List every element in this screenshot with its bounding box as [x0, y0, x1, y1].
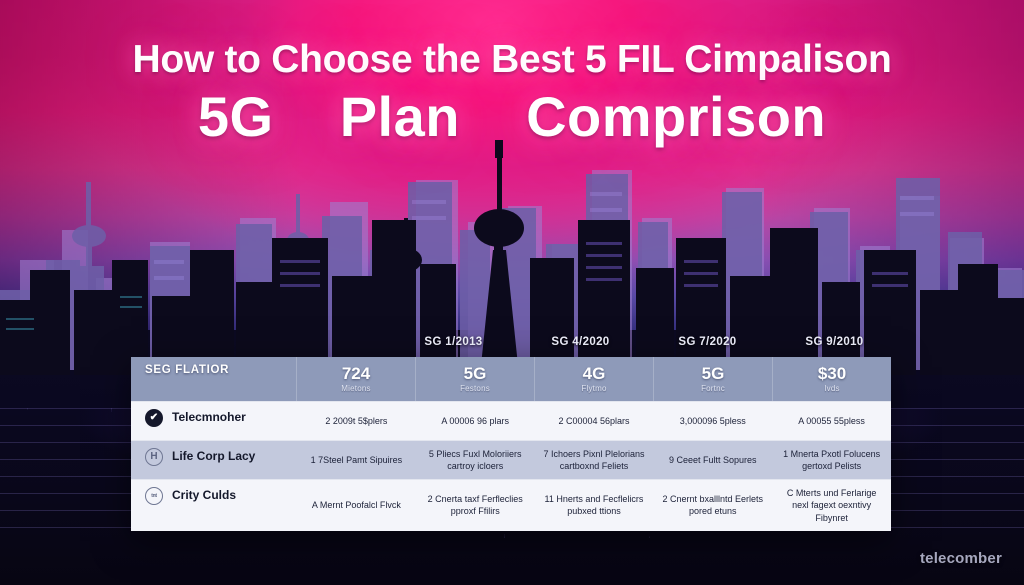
table-row-1-cell-0: 1 7Steel Pamt Sipuires: [297, 441, 416, 479]
table-row-1-label-cell: H Life Corp Lacy: [131, 441, 297, 479]
table-row-2-cell-3: 2 Cnernt bxalllntd Eerlets pored etuns: [653, 480, 772, 530]
table-header-col-0-value: 724: [342, 365, 370, 383]
table-header-col-2[interactable]: 4G Flytmo: [535, 357, 654, 401]
table-row-2-label-cell: tnt Crity Culds: [131, 480, 297, 530]
timeline-label-2: SG 7/2020: [644, 331, 771, 353]
table-header-col-4[interactable]: $30 Ivds: [773, 357, 891, 401]
timeline-label-3: SG 9/2010: [771, 331, 898, 353]
table-row-0-cell-0: 2 2009t 5$plers: [297, 402, 416, 440]
table-header-row: SEG FLATIOR 724 Mietons 5G Festons 4G Fl…: [131, 357, 891, 401]
text-circle-icon: tnt: [145, 487, 163, 505]
table-header-col-1[interactable]: 5G Festons: [416, 357, 535, 401]
table-row[interactable]: H Life Corp Lacy 1 7Steel Pamt Sipuires …: [131, 440, 891, 479]
table-row-0-cell-3: 3,000096 5pless: [653, 402, 772, 440]
table-row-2-cell-2: 11 Hnerts and Fecflelicrs pubxed ttions: [535, 480, 654, 530]
table-row-1-cell-3: 9 Ceeet Fultt Sopures: [653, 441, 772, 479]
table-row-2-cell-4: C Mterts und Ferlarige nexl fagext oexnt…: [772, 480, 891, 530]
table-header-col-0-sub: Mietons: [341, 384, 370, 393]
table-row-2-label: Crity Culds: [172, 487, 236, 503]
table-header-feature-label: SEG FLATIOR: [145, 364, 229, 376]
timeline-label-0: SG 1/2013: [390, 331, 517, 353]
table-row-1-cell-4: 1 Mnerta Pxotl Folucens gertoxd Pelists: [772, 441, 891, 479]
brand-watermark: telecomber: [920, 550, 1002, 567]
table-header-feature-cell: SEG FLATIOR: [131, 357, 297, 401]
table-header-col-4-value: $30: [818, 365, 846, 383]
table-header-col-0[interactable]: 724 Mietons: [297, 357, 416, 401]
table-header-col-3[interactable]: 5G Fortnc: [654, 357, 773, 401]
table-row[interactable]: tnt Crity Culds A Mernt Poofalcl Flvck 2…: [131, 479, 891, 530]
table-header-col-1-sub: Festons: [460, 384, 490, 393]
table-header-col-2-sub: Flytmo: [581, 384, 606, 393]
table-header-col-3-value: 5G: [702, 365, 725, 383]
table-row-2-cell-1: 2 Cnerta taxf Ferfleclies pproxf Ffilirs: [416, 480, 535, 530]
table-row-1-cell-1: 5 Pliecs Fuxl Moloriiers cartroy icloers: [416, 441, 535, 479]
table-row-0-cell-1: A 00006 96 plars: [416, 402, 535, 440]
table-header-col-1-value: 5G: [464, 365, 487, 383]
table-row[interactable]: ✔ Telecmnoher 2 2009t 5$plers A 00006 96…: [131, 401, 891, 440]
table-header-col-2-value: 4G: [583, 365, 606, 383]
table-header-col-4-sub: Ivds: [824, 384, 839, 393]
table-row-1-cell-2: 7 Ichoers Pixnl Plelorians cartboxnd Fel…: [535, 441, 654, 479]
table-row-2-cell-0: A Mernt Poofalcl Flvck: [297, 480, 416, 530]
check-circle-icon: ✔: [145, 409, 163, 427]
table-row-1-label: Life Corp Lacy: [172, 448, 255, 464]
comparison-table[interactable]: SEG FLATIOR 724 Mietons 5G Festons 4G Fl…: [131, 357, 891, 531]
table-header-col-3-sub: Fortnc: [701, 384, 725, 393]
table-row-0-cell-2: 2 C00004 56plars: [535, 402, 654, 440]
timeline-label-1: SG 4/2020: [517, 331, 644, 353]
table-row-0-label: Telecmnoher: [172, 409, 246, 425]
table-row-0-cell-4: A 00055 55pless: [772, 402, 891, 440]
poster-canvas: How to Choose the Best 5 FIL Cimpalison …: [0, 0, 1024, 585]
table-row-0-label-cell: ✔ Telecmnoher: [131, 402, 297, 440]
timeline-labels: SG 1/2013 SG 4/2020 SG 7/2020 SG 9/2010: [390, 331, 898, 353]
hub-circle-icon: H: [145, 448, 163, 466]
